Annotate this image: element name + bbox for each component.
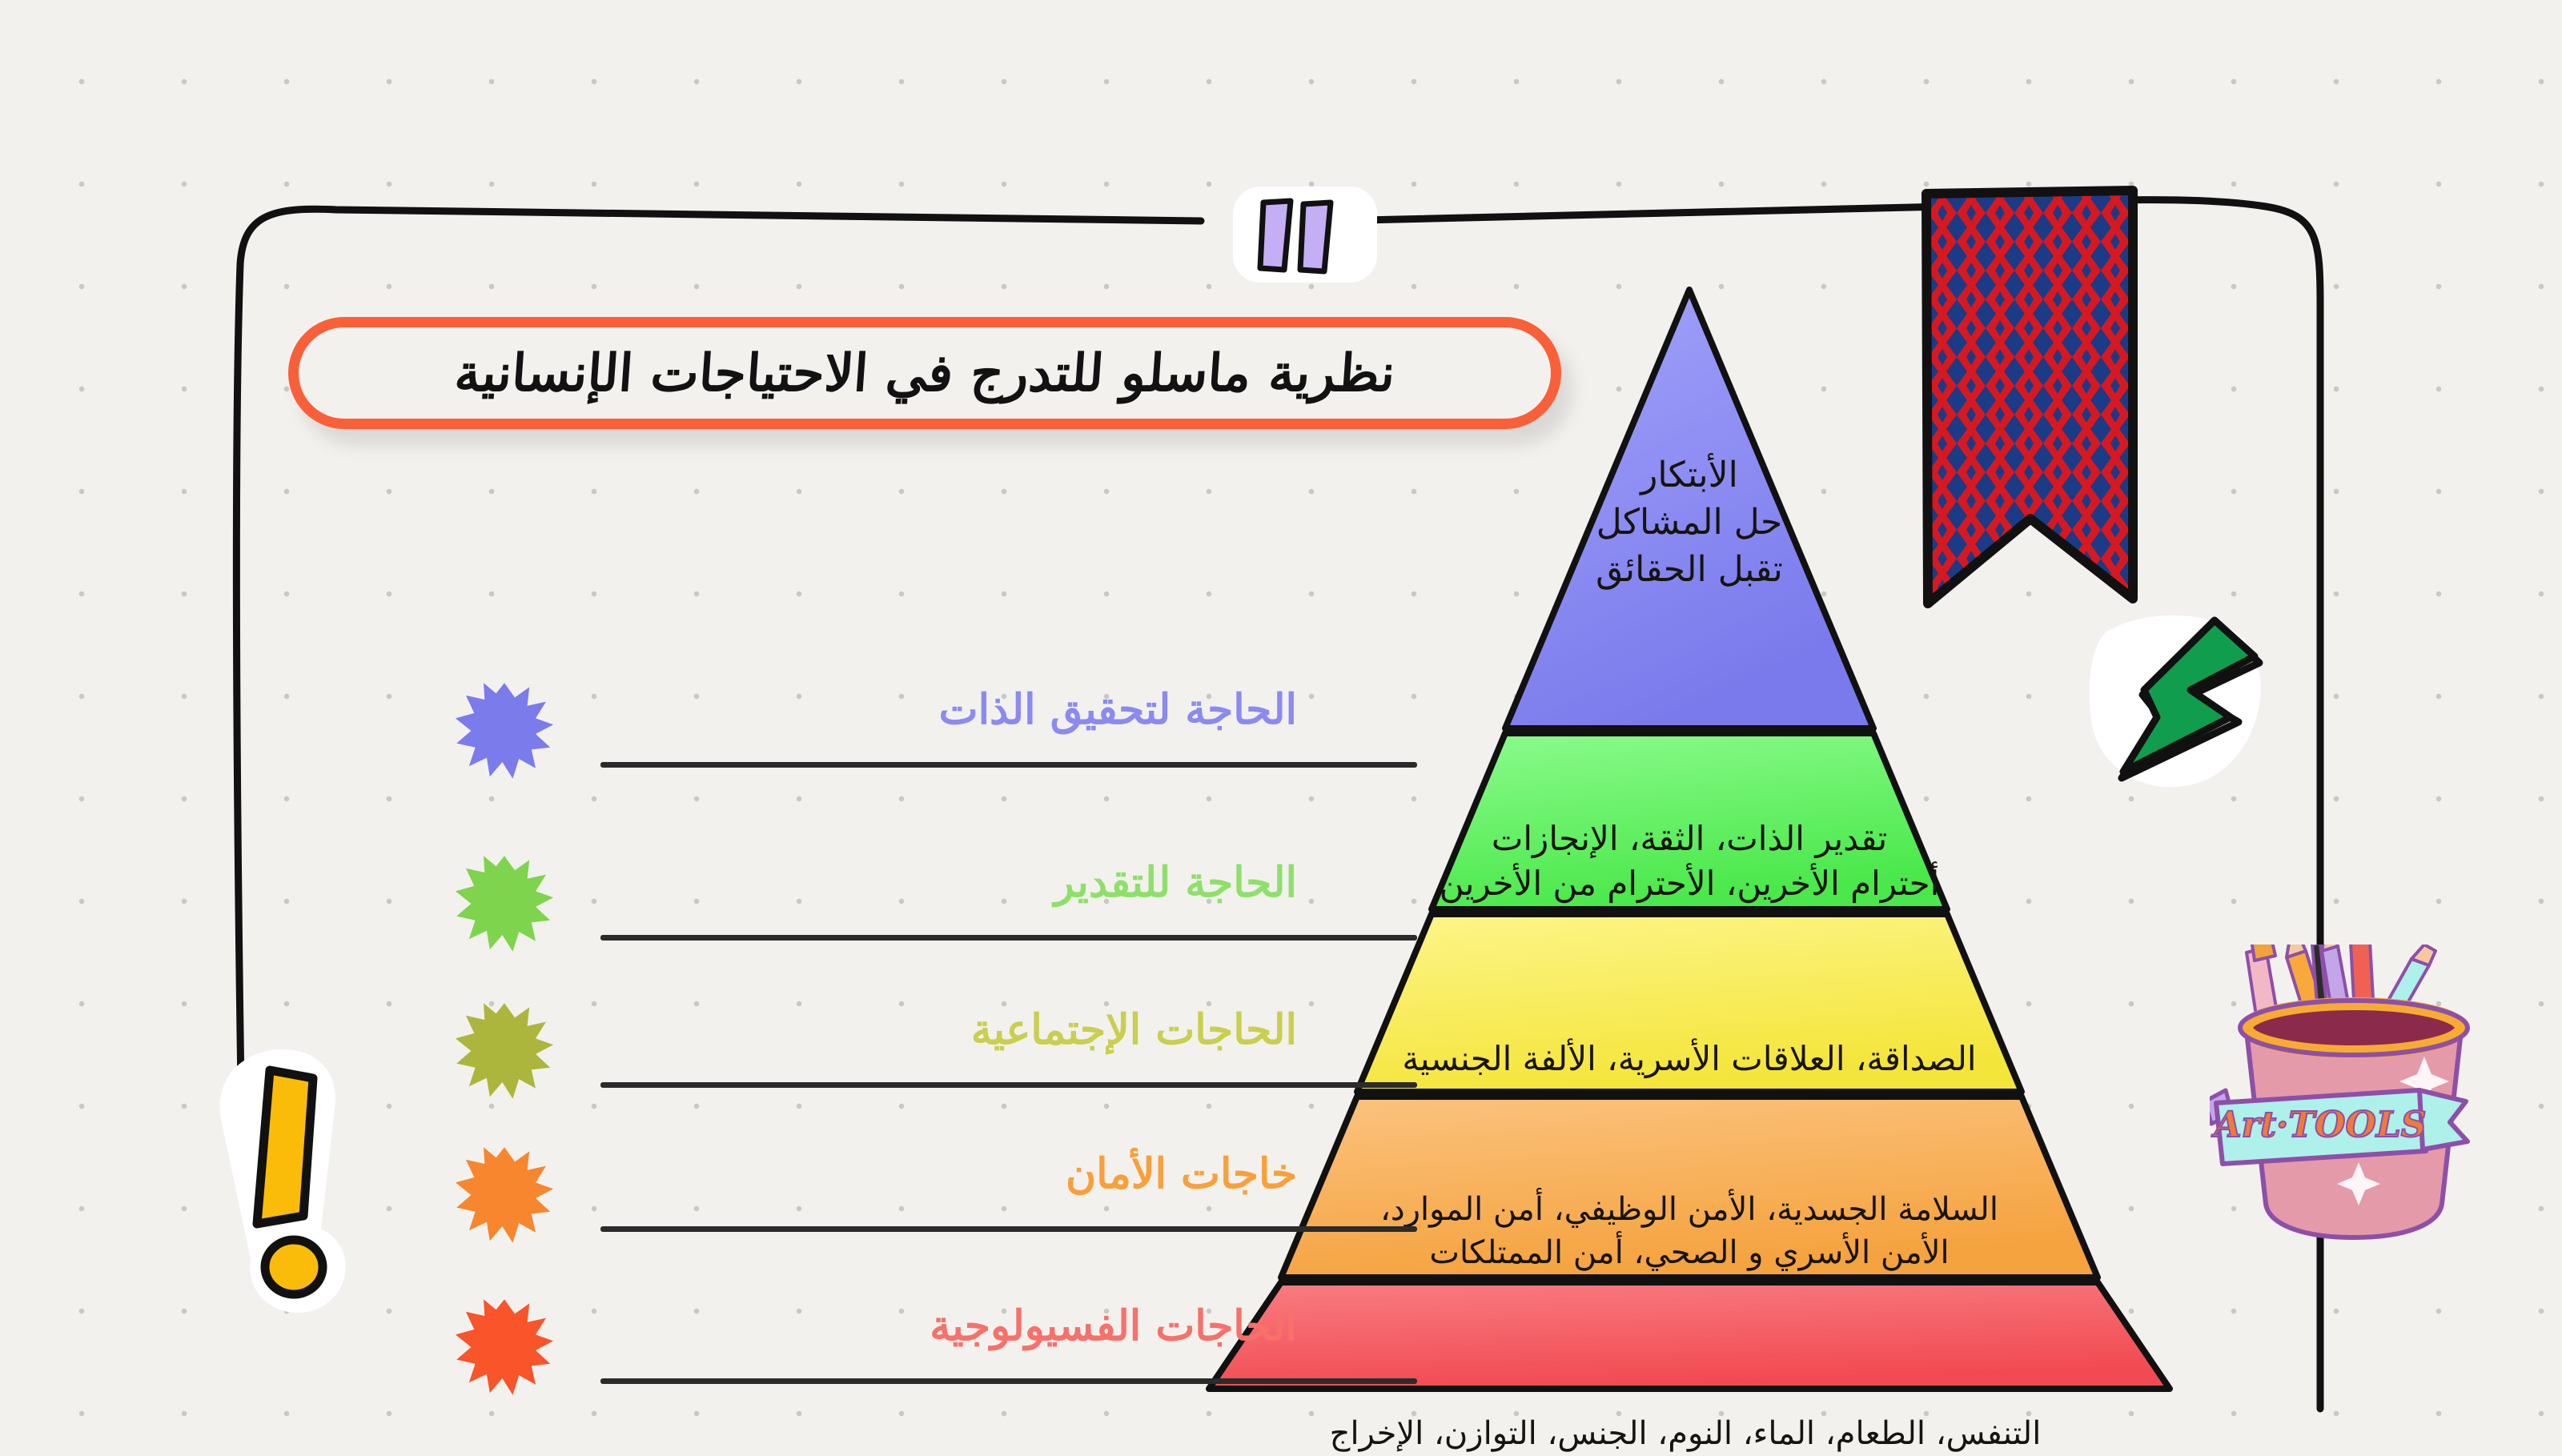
exclamation-mark-sticker	[172, 1029, 388, 1325]
legend-item-social[interactable]: الحاجات الإجتماعية	[448, 985, 1297, 1113]
pyramid-level-safety	[1281, 1097, 2098, 1278]
legend-rule	[600, 1082, 1417, 1088]
legend-label-safety: خاجات الأمان	[608, 1149, 1297, 1198]
ink-splat-icon	[448, 1295, 560, 1399]
legend-item-esteem[interactable]: الحاجة للتقدير	[448, 837, 1297, 965]
legend-label-self-actualization: الحاجة لتحقيق الذات	[608, 685, 1297, 734]
legend-item-self-actualization[interactable]: الحاجة لتحقيق الذات	[448, 664, 1297, 792]
legend-item-physiological[interactable]: الحاجات الفسيولوجية	[448, 1281, 1297, 1409]
ink-splat-icon	[448, 852, 560, 956]
legend-list: الحاجة لتحقيق الذات الحاجة للتقدير الحاج…	[448, 664, 1297, 1409]
pyramid-level-4-line-0: التنفس، الطعام، الماء، النوم، الجنس، الت…	[1105, 1413, 2266, 1456]
legend-rule	[600, 1378, 1417, 1384]
pyramid-level-social	[1357, 914, 2022, 1092]
checkered-bookmark-sticker	[1913, 184, 2146, 624]
legend-item-safety[interactable]: خاجات الأمان	[448, 1129, 1297, 1257]
pyramid-level-esteem	[1432, 733, 1947, 909]
pyramid-level-4-text: التنفس، الطعام، الماء، النوم، الجنس، الت…	[1105, 1413, 2266, 1456]
legend-rule	[600, 935, 1417, 941]
ink-splat-icon	[448, 1143, 560, 1247]
legend-label-esteem: الحاجة للتقدير	[608, 858, 1297, 907]
art-tools-pencil-cup-sticker: Art·TOOLS	[2210, 945, 2562, 1281]
ink-splat-icon	[448, 679, 560, 783]
pause-bars-sticker	[1225, 180, 1385, 292]
pyramid-level-self-actualization	[1505, 290, 1873, 728]
ink-splat-icon	[448, 999, 560, 1103]
legend-rule	[600, 1226, 1417, 1232]
legend-label-social: الحاجات الإجتماعية	[608, 1005, 1297, 1054]
lightning-bolt-sticker	[2074, 600, 2274, 792]
legend-label-physiological: الحاجات الفسيولوجية	[608, 1302, 1297, 1350]
pyramid-level-physiological	[1209, 1282, 2170, 1389]
legend-rule	[600, 762, 1417, 768]
art-tools-ribbon-label: Art·TOOLS	[2211, 1105, 2426, 1145]
